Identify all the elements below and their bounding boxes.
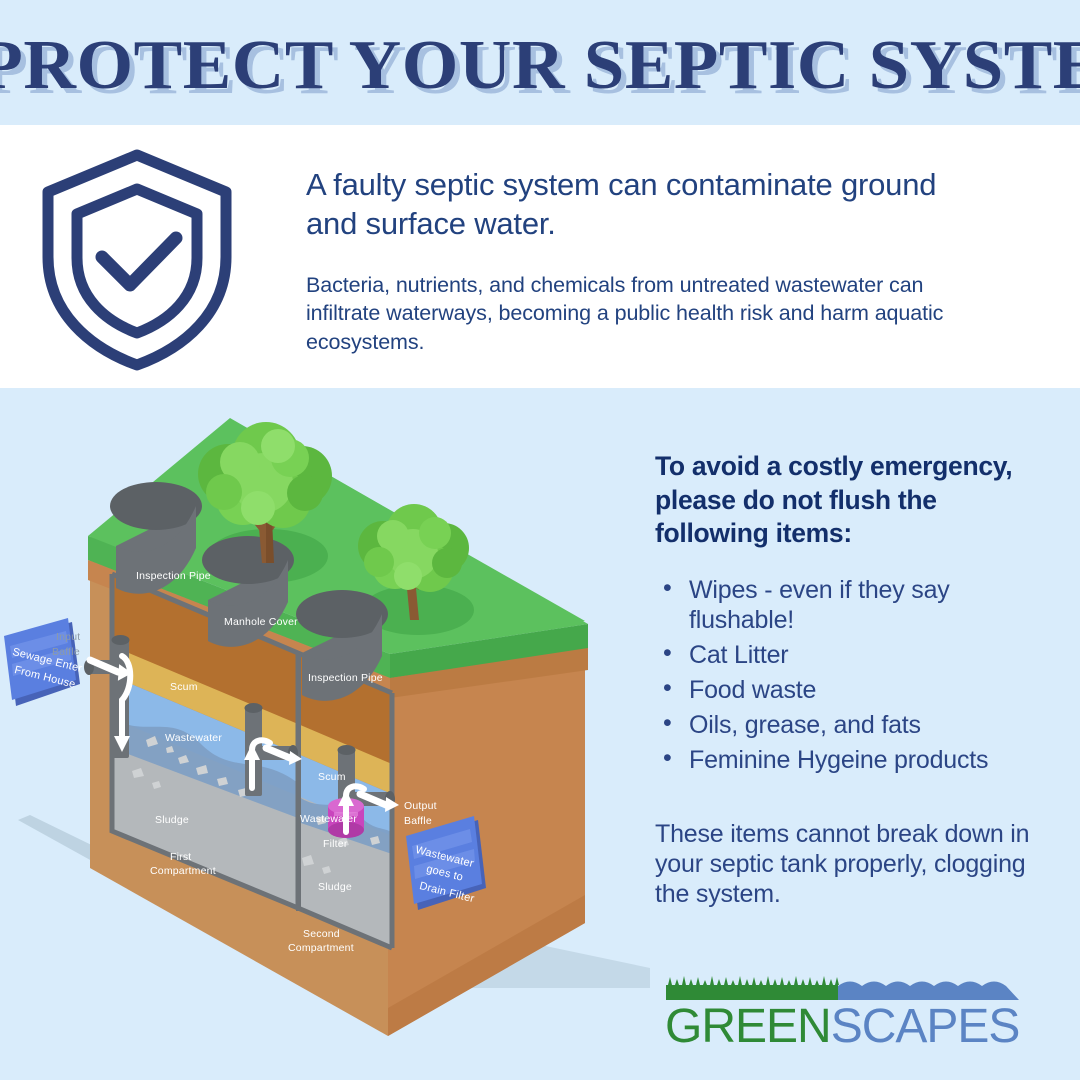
infographic-page: PROTECT YOUR SEPTIC SYSTEM A faulty sept… [0,0,1080,1080]
intro-body: Bacteria, nutrients, and chemicals from … [306,271,971,357]
shield-check-icon [38,145,236,375]
intro-heading: A faulty septic system can contaminate g… [306,165,971,244]
greenscapes-logo[interactable]: GREENSCAPES [665,975,1025,1070]
logo-wordmark: GREENSCAPES [665,1003,1025,1051]
grass-bar-icon [665,975,1020,1001]
divider-wall [296,653,301,911]
septic-tank-diagram: Inspection Pipe Manhole Cover Inspection… [0,388,650,1080]
logo-word-green: GREEN [665,1000,831,1053]
intro-text-block: A faulty septic system can contaminate g… [306,165,971,357]
do-not-flush-block: To avoid a costly emergency, please do n… [655,450,1055,910]
list-item: Oils, grease, and fats [655,710,1055,740]
inlet-tag [4,618,80,706]
do-not-flush-list: Wipes - even if they say flushable! Cat … [655,575,1055,775]
list-item: Food waste [655,675,1055,705]
page-title: PROTECT YOUR SEPTIC SYSTEM [0,26,1080,106]
do-not-flush-heading: To avoid a costly emergency, please do n… [655,450,1055,551]
list-item: Cat Litter [655,640,1055,670]
wave-bar-icon [838,982,1019,1001]
list-item: Feminine Hygeine products [655,745,1055,775]
list-item: Wipes - even if they say flushable! [655,575,1055,635]
logo-word-blue: SCAPES [831,1000,1020,1053]
logo-bars [665,975,1020,1001]
do-not-flush-footer: These items cannot break down in your se… [655,819,1055,910]
